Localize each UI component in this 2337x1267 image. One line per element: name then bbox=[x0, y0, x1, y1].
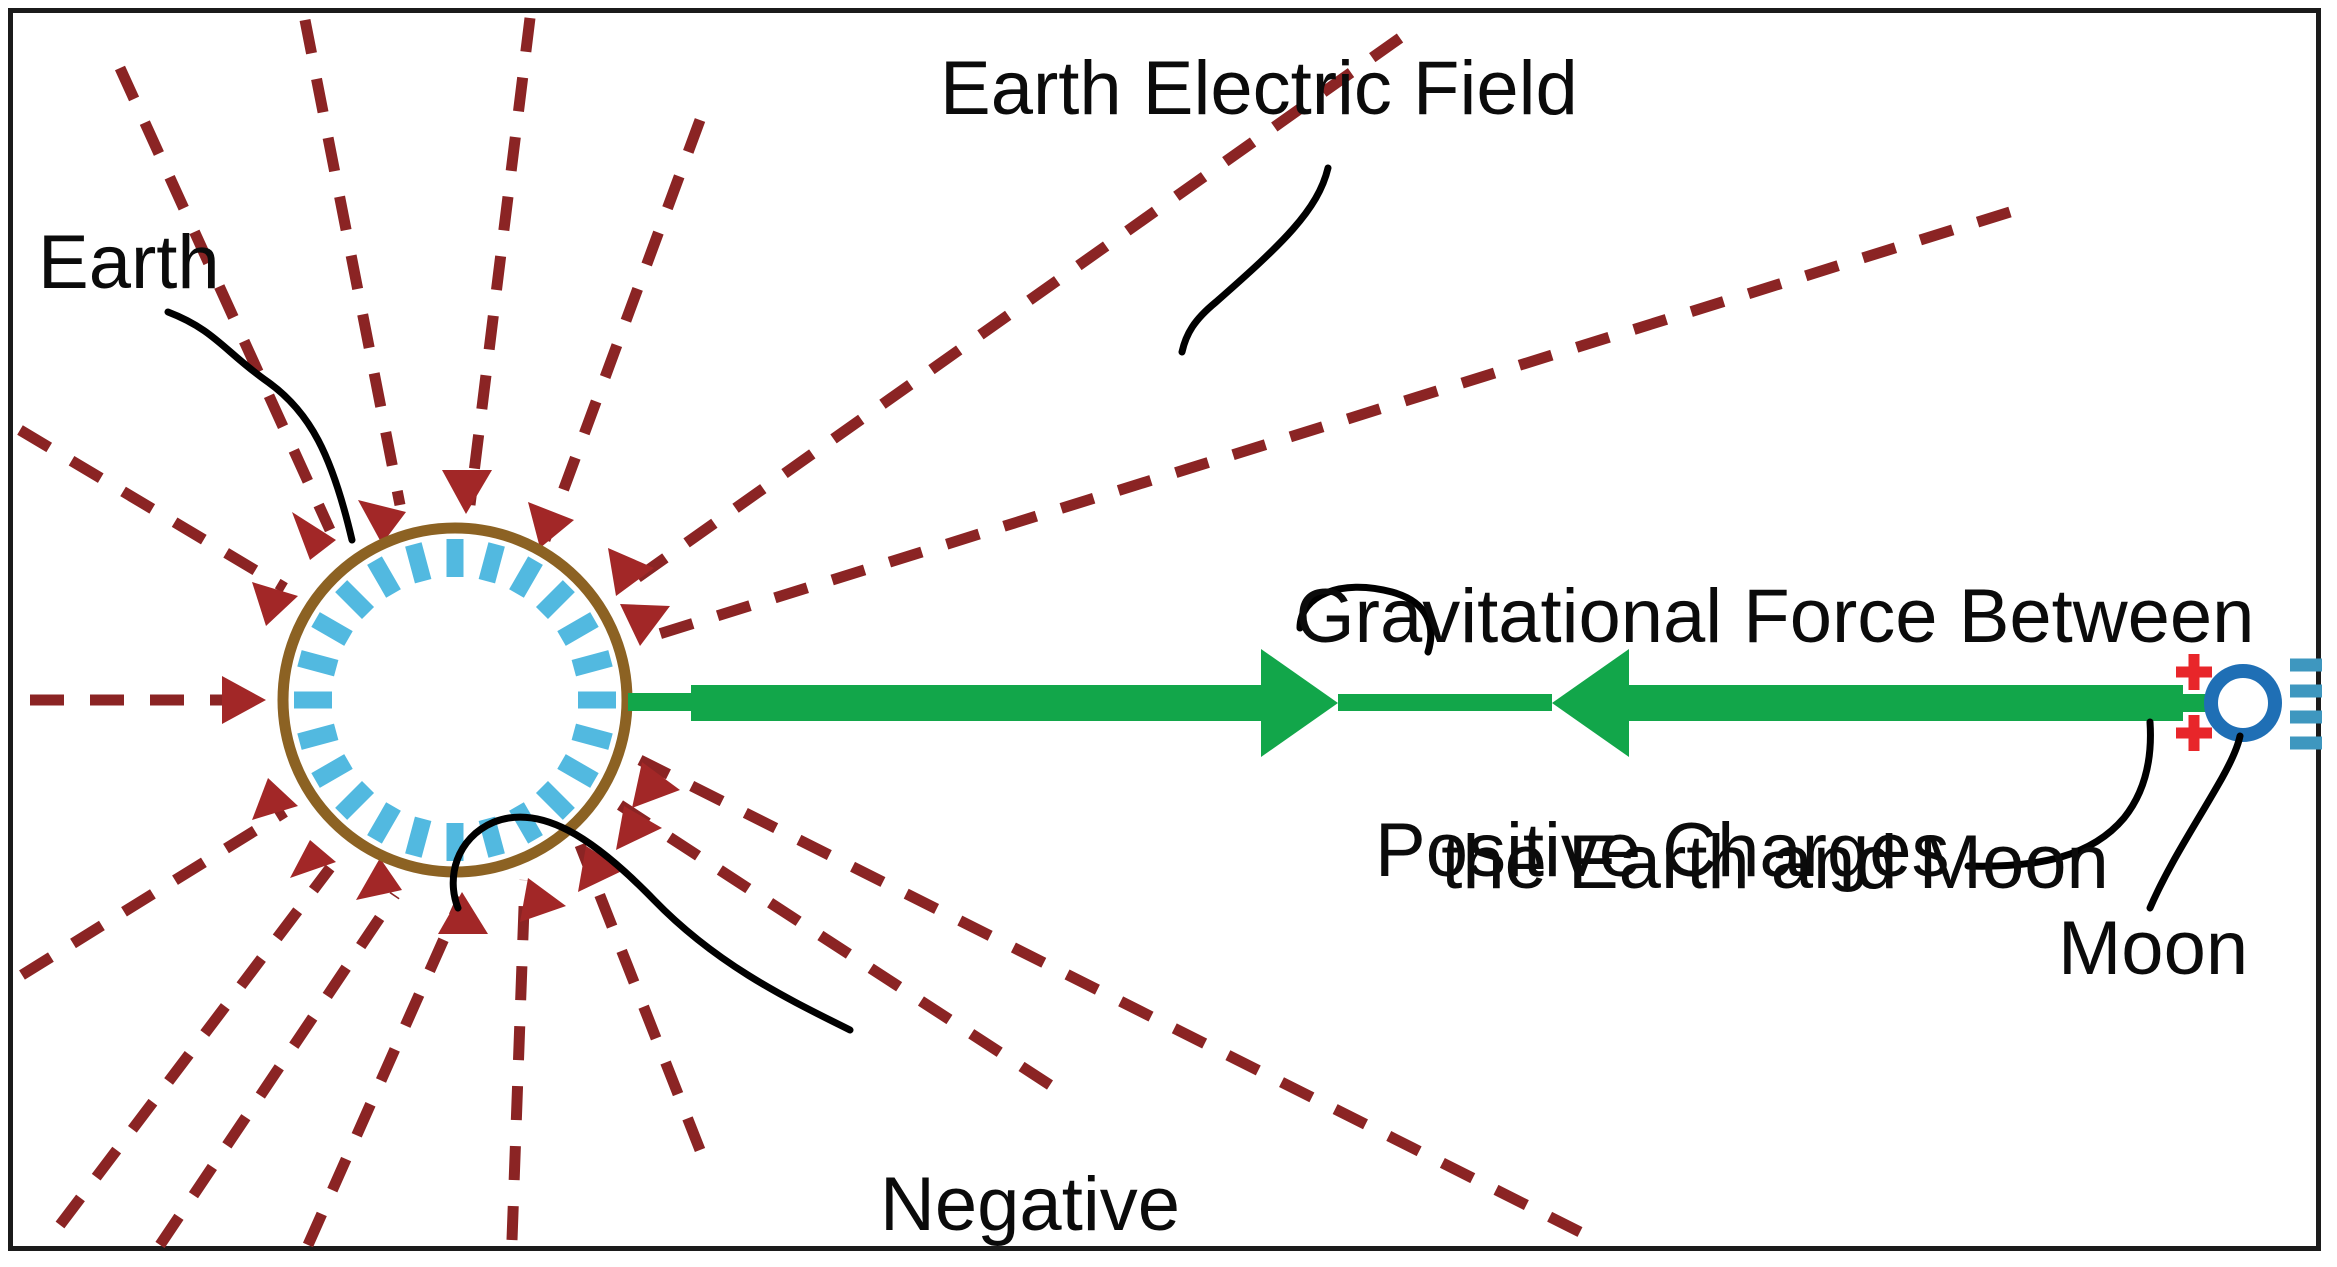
gravity-arrow-left-shaft bbox=[691, 685, 1261, 721]
field-arrowhead-wnw bbox=[252, 582, 298, 626]
field-arrowhead-sse bbox=[520, 878, 566, 922]
diagram-canvas: Earth Earth Electric Field Gravitational… bbox=[0, 0, 2337, 1267]
label-positive-charges: Positive Charges bbox=[1375, 810, 1950, 892]
field-arrowhead-ene bbox=[620, 604, 670, 646]
label-moon: Moon bbox=[2058, 908, 2248, 990]
field-line-wnw bbox=[20, 430, 285, 588]
field-arrowhead-nne bbox=[528, 502, 574, 548]
field-line-nnw bbox=[305, 20, 400, 505]
label-negative-charges: Negative Charges bbox=[860, 1000, 1200, 1267]
label-earth-electric-field: Earth Electric Field bbox=[940, 48, 1578, 130]
leader-earth-electric-field bbox=[1182, 168, 1328, 352]
field-line-nne bbox=[545, 120, 700, 540]
field-arrowhead-s bbox=[438, 892, 488, 934]
label-negative-charges-line1: Negative bbox=[860, 1164, 1200, 1246]
field-line-sse bbox=[512, 880, 525, 1240]
field-line-n bbox=[470, 18, 530, 505]
field-arrowhead-w bbox=[222, 676, 266, 724]
field-line-wsw bbox=[22, 812, 285, 975]
field-line-ssw bbox=[160, 895, 395, 1245]
field-line-sw bbox=[60, 868, 330, 1225]
field-arrowhead-n bbox=[442, 470, 492, 514]
gravity-arrow-left-stub bbox=[628, 693, 691, 711]
earth-body bbox=[283, 528, 627, 872]
field-line-s bbox=[308, 898, 462, 1245]
label-earth: Earth bbox=[38, 222, 220, 304]
label-gravitational-force-line1: Gravitational Force Between bbox=[1245, 576, 2305, 658]
field-arrowhead-ne bbox=[608, 548, 654, 596]
